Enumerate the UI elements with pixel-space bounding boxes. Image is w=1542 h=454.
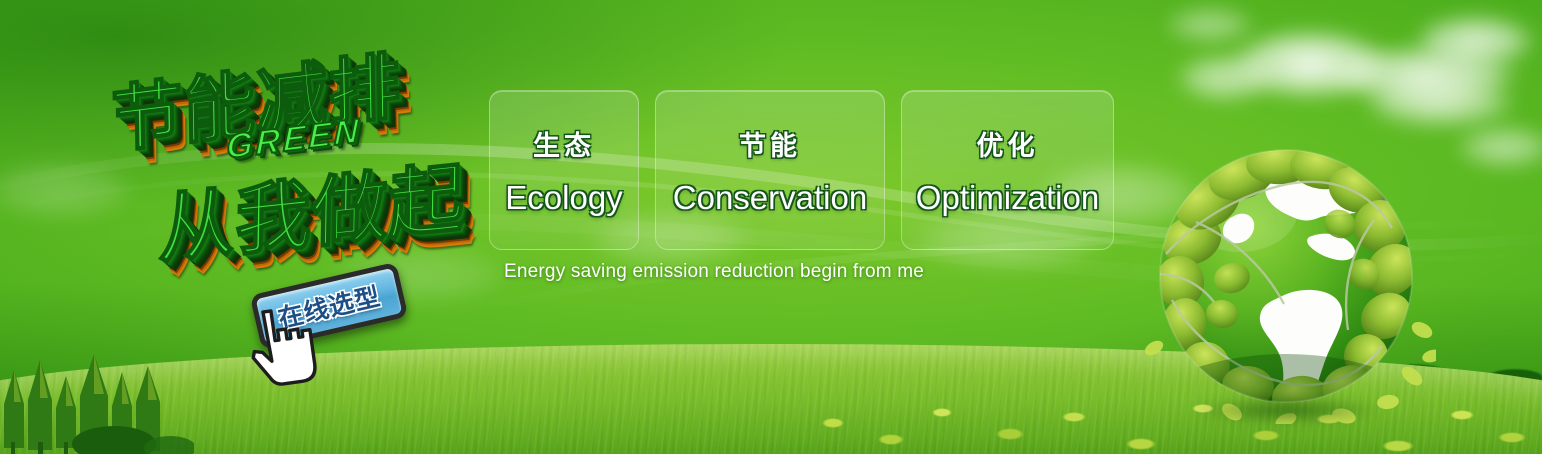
leafy-earth-globe-icon xyxy=(1136,124,1436,424)
feature-card-title-cn: 生态 xyxy=(533,124,595,163)
feature-card-title-en: Optimization xyxy=(916,179,1099,217)
online-selection-cta[interactable]: 在线选型 xyxy=(254,278,424,356)
feature-card-title-cn: 节能 xyxy=(739,124,801,163)
cloud-icon xyxy=(1160,46,1290,110)
conifer-tree-icon xyxy=(0,352,194,454)
cloud-icon xyxy=(1440,118,1542,176)
pointing-hand-cursor-icon xyxy=(236,299,323,395)
cloud-icon xyxy=(1300,36,1542,114)
feature-card-title-cn: 优化 xyxy=(977,124,1039,163)
banner-tagline: Energy saving emission reduction begin f… xyxy=(504,261,924,283)
feature-card-optimization[interactable]: 优化 Optimization xyxy=(901,90,1114,250)
feature-card-title-en: Conservation xyxy=(673,179,867,217)
eco-promo-banner: 节能减排 GREEN 从我做起 在线选型 生态 Ecology 节能 Conse… xyxy=(0,0,1542,454)
cloud-icon xyxy=(1395,6,1542,76)
feature-card-conservation[interactable]: 节能 Conservation xyxy=(655,90,885,250)
globe-shadow xyxy=(1154,390,1420,430)
feature-card-title-en: Ecology xyxy=(505,179,622,217)
cloud-icon xyxy=(1205,18,1415,110)
headline-line-2: 从我做起 xyxy=(158,135,466,278)
feature-card-list: 生态 Ecology 节能 Conservation 优化 Optimizati… xyxy=(489,90,1114,250)
cloud-icon xyxy=(1150,0,1270,50)
headline-artwork: 节能减排 GREEN 从我做起 xyxy=(96,34,496,279)
feature-card-ecology[interactable]: 生态 Ecology xyxy=(489,90,639,250)
